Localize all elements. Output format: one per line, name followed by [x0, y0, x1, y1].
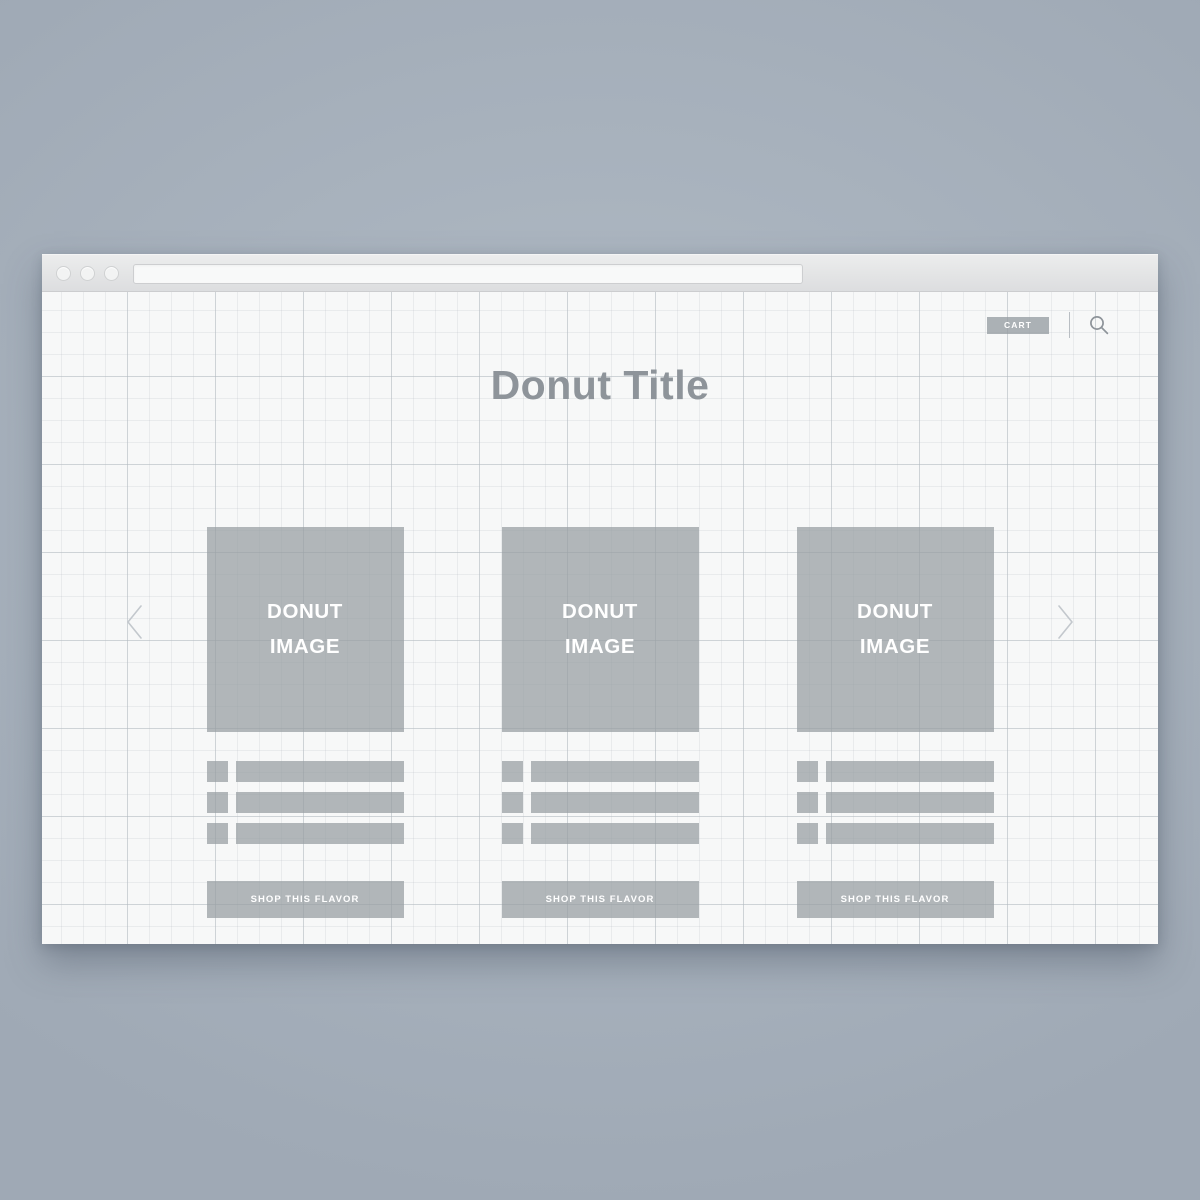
placeholder-line-row	[502, 761, 699, 782]
shop-this-flavor-button[interactable]: SHOP THIS FLAVOR	[207, 881, 404, 918]
donut-image-label-line1: DONUT	[267, 595, 343, 630]
donut-image-label-line1: DONUT	[562, 595, 638, 630]
placeholder-line-row	[797, 761, 994, 782]
chevron-left-icon[interactable]	[122, 602, 148, 642]
placeholder-bullet	[797, 792, 818, 813]
product-cards-row: DONUT IMAGE	[42, 527, 1158, 918]
donut-image-placeholder[interactable]: DONUT IMAGE	[207, 527, 404, 732]
placeholder-line-row	[502, 823, 699, 844]
placeholder-bullet	[207, 823, 228, 844]
donut-image-placeholder[interactable]: DONUT IMAGE	[797, 527, 994, 732]
placeholder-line-row	[797, 792, 994, 813]
placeholder-bar	[531, 761, 699, 782]
window-controls	[56, 266, 119, 281]
donut-image-label-line2: IMAGE	[565, 630, 635, 665]
placeholder-bar	[531, 792, 699, 813]
maximize-dot[interactable]	[104, 266, 119, 281]
placeholder-line-row	[797, 823, 994, 844]
card-text-placeholder-lines	[207, 761, 404, 844]
placeholder-bullet	[207, 761, 228, 782]
placeholder-bar	[236, 761, 404, 782]
close-dot[interactable]	[56, 266, 71, 281]
card-text-placeholder-lines	[502, 761, 699, 844]
placeholder-bar	[236, 792, 404, 813]
product-card: DONUT IMAGE	[797, 527, 994, 918]
product-card: DONUT IMAGE	[207, 527, 404, 918]
minimize-dot[interactable]	[80, 266, 95, 281]
browser-titlebar	[42, 254, 1158, 292]
browser-window: CART Donut Title	[42, 254, 1158, 944]
placeholder-bullet	[797, 761, 818, 782]
placeholder-line-row	[502, 792, 699, 813]
placeholder-bullet	[502, 823, 523, 844]
cart-button[interactable]: CART	[987, 317, 1049, 334]
placeholder-line-row	[207, 823, 404, 844]
shop-this-flavor-button[interactable]: SHOP THIS FLAVOR	[797, 881, 994, 918]
shop-this-flavor-button[interactable]: SHOP THIS FLAVOR	[502, 881, 699, 918]
donut-image-label-line2: IMAGE	[860, 630, 930, 665]
placeholder-bar	[826, 761, 994, 782]
donut-image-label-line1: DONUT	[857, 595, 933, 630]
product-carousel: DONUT IMAGE	[42, 527, 1158, 918]
donut-image-placeholder[interactable]: DONUT IMAGE	[502, 527, 699, 732]
site-header: CART	[987, 312, 1110, 338]
placeholder-bar	[236, 823, 404, 844]
card-text-placeholder-lines	[797, 761, 994, 844]
placeholder-line-row	[207, 792, 404, 813]
chevron-right-icon[interactable]	[1052, 602, 1078, 642]
address-bar-input[interactable]	[133, 264, 803, 284]
donut-image-label-line2: IMAGE	[270, 630, 340, 665]
placeholder-bar	[826, 823, 994, 844]
product-card: DONUT IMAGE	[502, 527, 699, 918]
placeholder-bullet	[207, 792, 228, 813]
placeholder-bullet	[502, 792, 523, 813]
placeholder-bar	[826, 792, 994, 813]
placeholder-bullet	[502, 761, 523, 782]
placeholder-line-row	[207, 761, 404, 782]
search-icon[interactable]	[1088, 314, 1110, 336]
page-viewport: CART Donut Title	[42, 292, 1158, 944]
page-title: Donut Title	[42, 362, 1158, 409]
placeholder-bullet	[797, 823, 818, 844]
header-divider	[1069, 312, 1070, 338]
placeholder-bar	[531, 823, 699, 844]
